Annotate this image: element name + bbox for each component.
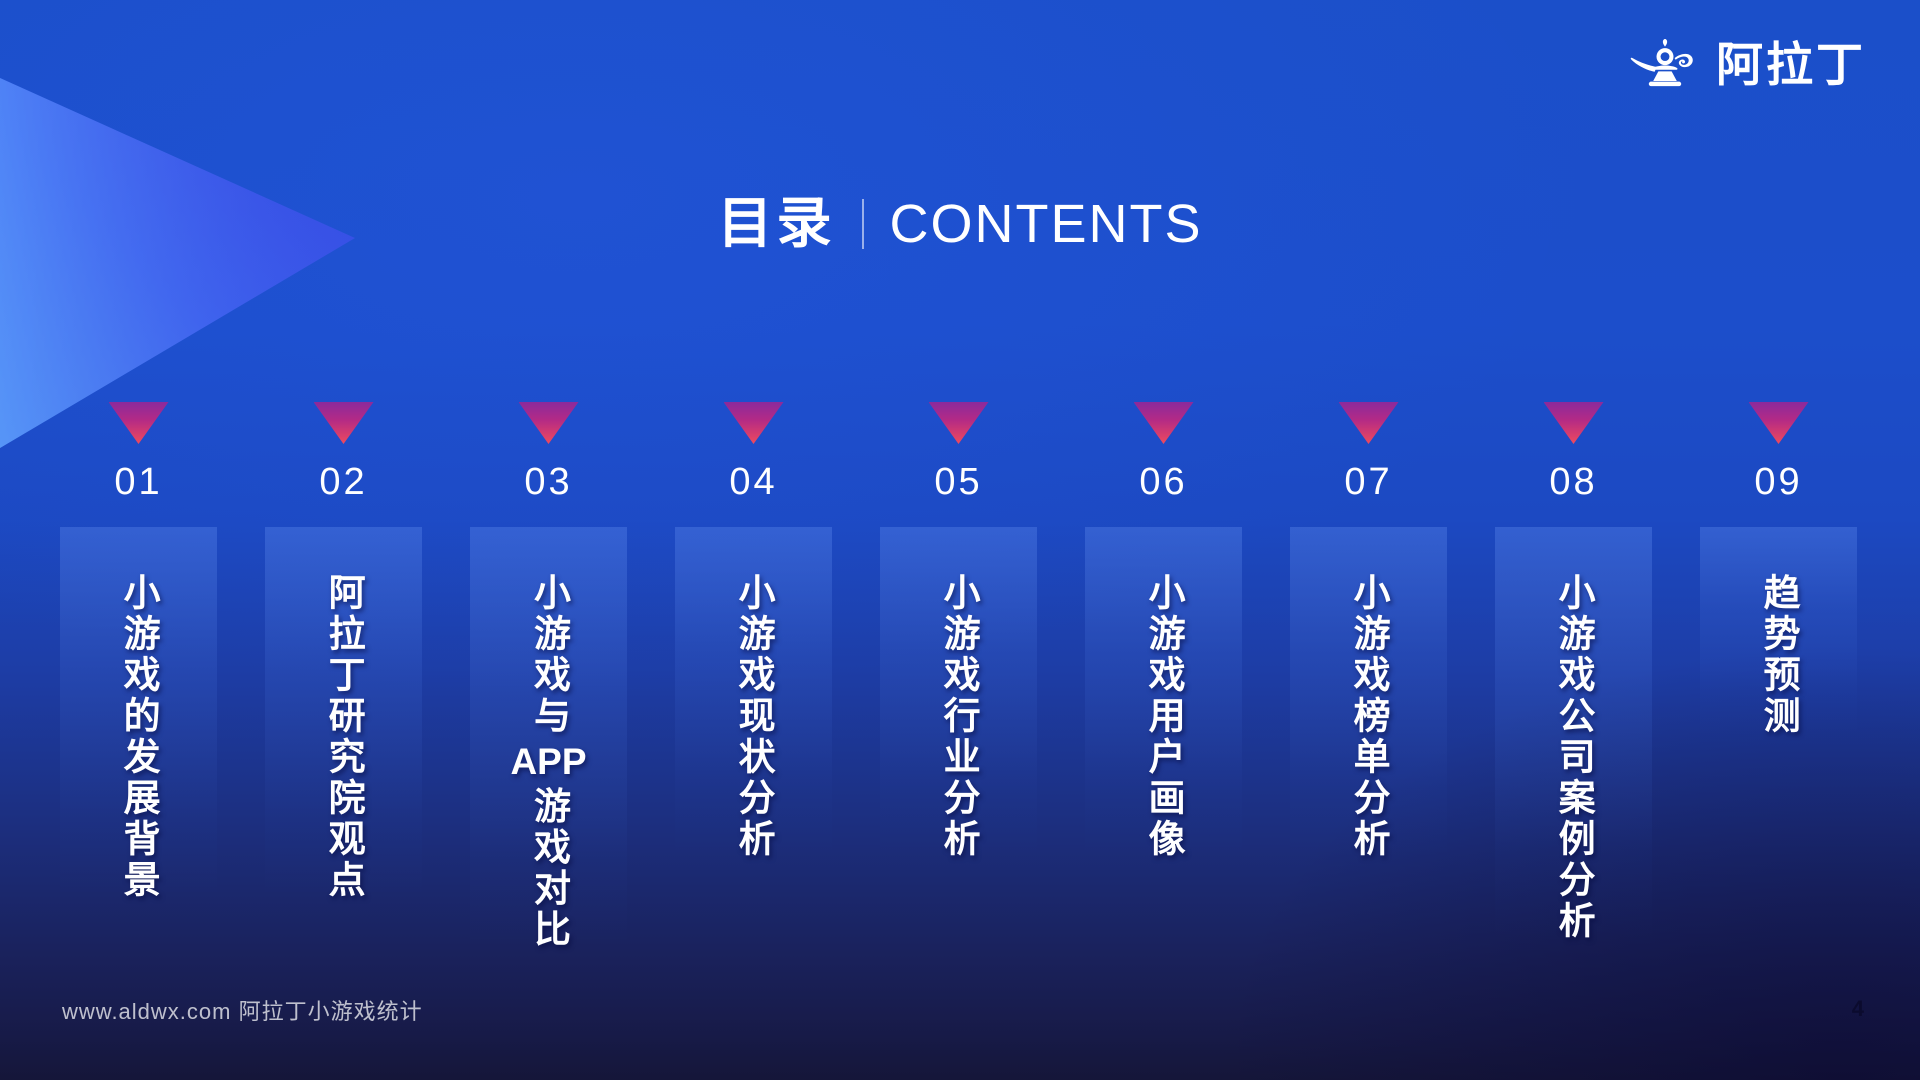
toc-item-05[interactable]: 05 小游戏行业分析 [880,402,1037,950]
toc-number: 04 [729,463,777,501]
triangle-down-icon [1544,402,1604,444]
triangle-down-icon [314,402,374,444]
toc-panel: 阿拉丁研究院观点 [265,527,422,901]
toc-panel: 趋势预测 [1700,527,1857,737]
triangle-down-icon [1339,402,1399,444]
toc-label-part-2: 游戏对比 [528,786,569,950]
triangle-down-icon [519,402,579,444]
toc-number: 03 [524,463,572,501]
toc-number: 06 [1139,463,1187,501]
toc-label: 小游戏现状分析 [729,573,778,860]
triangle-down-icon [724,402,784,444]
toc-panel: 小游戏榜单分析 [1290,527,1447,860]
triangle-down-icon [1749,402,1809,444]
toc-item-02[interactable]: 02 阿拉丁研究院观点 [265,402,422,950]
toc-number: 05 [934,463,982,501]
brand-name: 阿拉丁 [1716,41,1866,88]
toc-label: 小游戏用户画像 [1139,573,1188,860]
page-title: 目录 CONTENTS [0,196,1920,251]
toc-panel: 小游戏公司案例分析 [1495,527,1652,942]
toc-item-01[interactable]: 01 小游戏的发展背景 [60,402,217,950]
contents-list: 01 小游戏的发展背景 02 阿拉丁研究院观点 03 小游戏与APP游戏对比 0… [60,402,1860,950]
toc-number: 01 [114,463,162,501]
toc-item-08[interactable]: 08 小游戏公司案例分析 [1495,402,1652,950]
toc-number: 07 [1344,463,1392,501]
toc-panel: 小游戏与APP游戏对比 [470,527,627,950]
page-title-en: CONTENTS [890,197,1203,251]
toc-label: 小游戏行业分析 [934,573,983,860]
triangle-down-icon [1134,402,1194,444]
toc-number: 02 [319,463,367,501]
page-number: 4 [1852,996,1864,1022]
toc-item-07[interactable]: 07 小游戏榜单分析 [1290,402,1447,950]
toc-label: 趋势预测 [1754,573,1803,737]
triangle-down-icon [109,402,169,444]
triangle-down-icon [929,402,989,444]
toc-number: 08 [1549,463,1597,501]
slide-canvas: 阿拉丁 目录 CONTENTS 01 小游戏的发展背景 02 阿拉丁研究院观点 … [0,0,1920,1080]
aladdin-lamp-icon [1628,36,1702,92]
toc-panel: 小游戏行业分析 [880,527,1037,860]
toc-panel: 小游戏的发展背景 [60,527,217,901]
toc-label: 小游戏公司案例分析 [1549,573,1598,942]
toc-label: 小游戏与APP游戏对比 [510,573,586,950]
toc-panel: 小游戏用户画像 [1085,527,1242,860]
toc-label-latin: APP [510,737,586,786]
toc-number: 09 [1754,463,1802,501]
brand-logo: 阿拉丁 [1628,36,1866,92]
toc-label: 小游戏榜单分析 [1344,573,1393,860]
toc-label: 小游戏的发展背景 [114,573,163,901]
toc-item-04[interactable]: 04 小游戏现状分析 [675,402,832,950]
footer-site-text: www.aldwx.com 阿拉丁小游戏统计 [62,994,423,1026]
toc-label-part-1: 小游戏与 [528,573,569,737]
toc-item-03[interactable]: 03 小游戏与APP游戏对比 [470,402,627,950]
page-title-cn: 目录 [717,196,835,251]
toc-item-09[interactable]: 09 趋势预测 [1700,402,1857,950]
title-divider [862,199,864,249]
toc-panel: 小游戏现状分析 [675,527,832,860]
toc-label: 阿拉丁研究院观点 [319,573,368,901]
toc-item-06[interactable]: 06 小游戏用户画像 [1085,402,1242,950]
